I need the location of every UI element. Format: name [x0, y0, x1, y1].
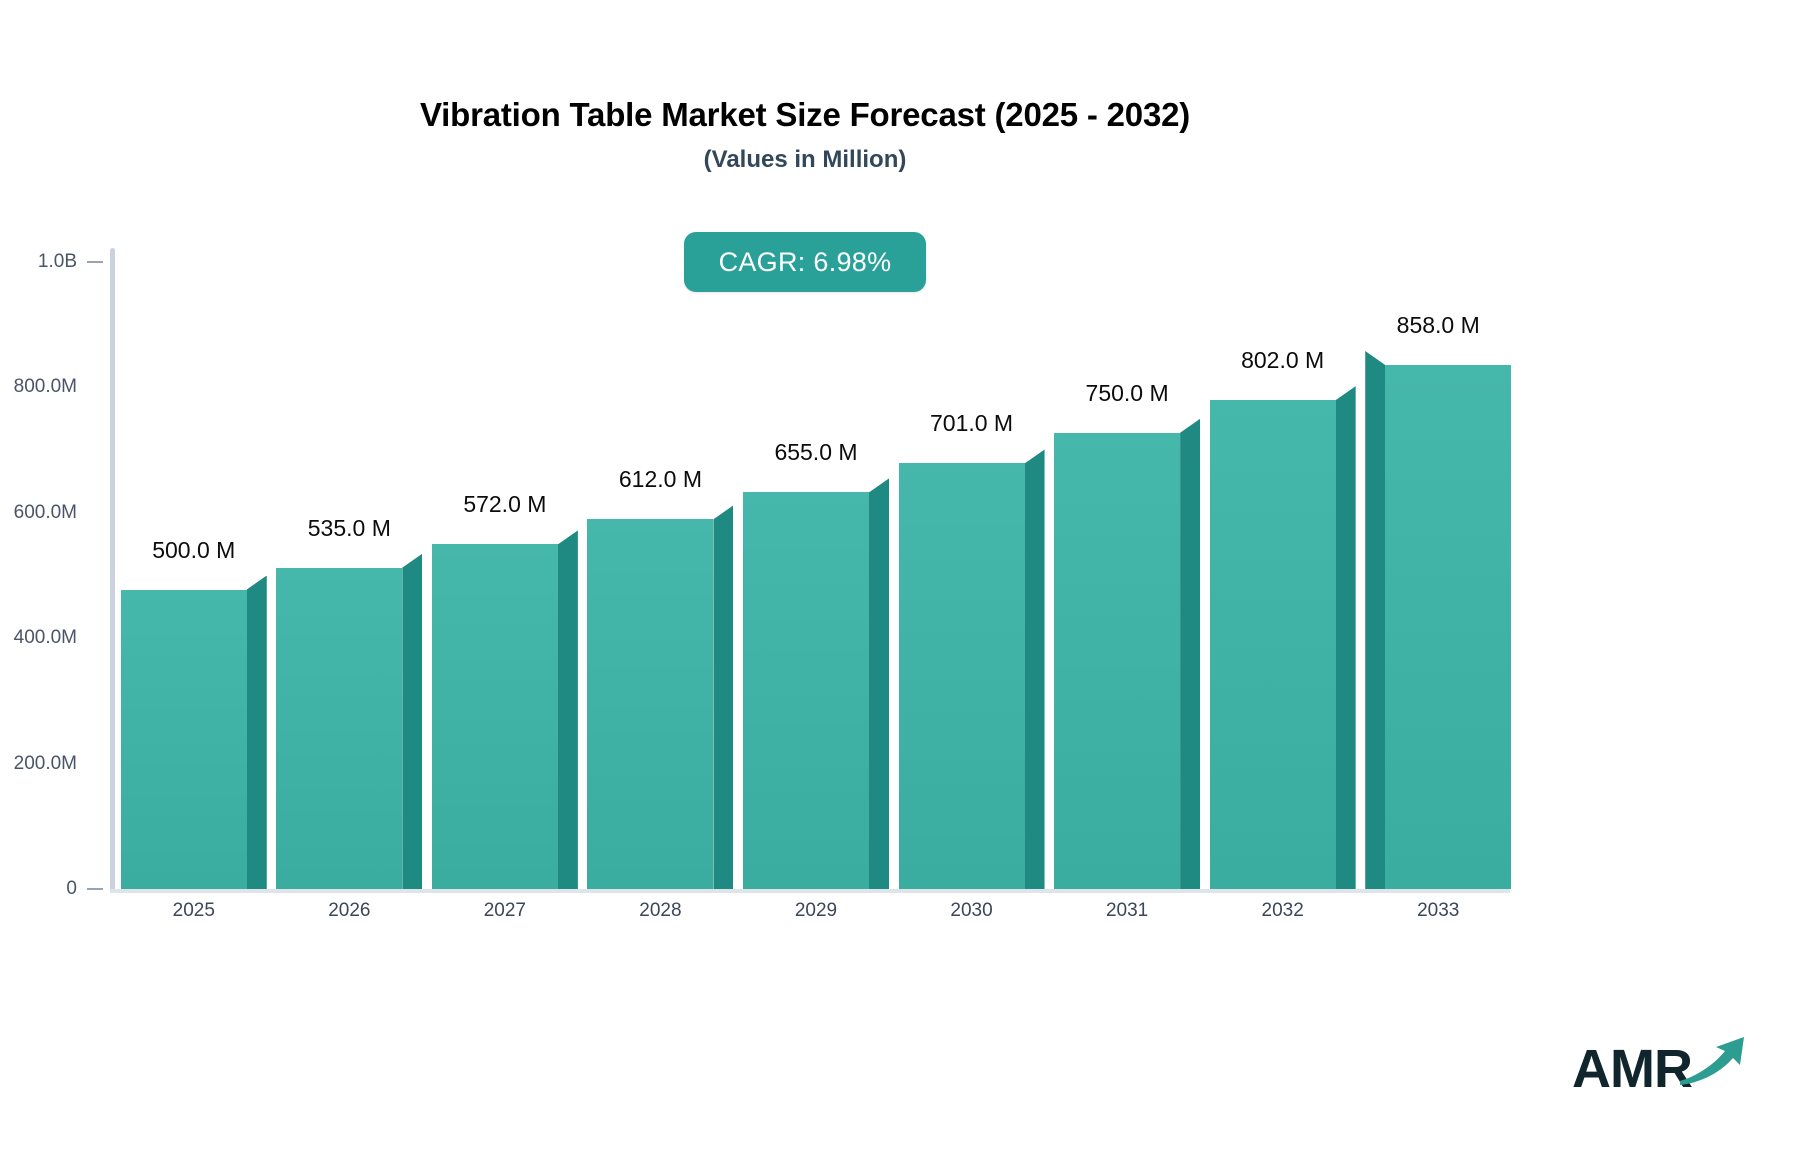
bar-shape — [899, 449, 1045, 889]
bar-front-face — [1210, 400, 1336, 889]
bar-side-face — [1365, 351, 1385, 889]
bar-item: 500.0 M — [121, 576, 267, 890]
bar-item: 750.0 M — [1054, 419, 1200, 889]
bar-value-label: 701.0 M — [899, 410, 1045, 437]
y-axis-tick: 600.0M — [0, 502, 109, 524]
y-axis-tick-label: 600.0M — [14, 502, 77, 524]
bar-item: 802.0 M — [1210, 386, 1356, 889]
bar-side-face — [558, 530, 578, 889]
x-axis-tick-label: 2029 — [743, 900, 889, 922]
page-title: Vibration Table Market Size Forecast (20… — [0, 96, 1610, 134]
x-axis-tick-label: 2033 — [1365, 900, 1511, 922]
logo-text: AMR — [1572, 1042, 1692, 1096]
x-axis-tick-label: 2028 — [587, 900, 733, 922]
bar-front-face — [743, 492, 869, 889]
bar-value-label: 858.0 M — [1365, 312, 1511, 339]
bar-value-label: 802.0 M — [1210, 347, 1356, 374]
y-axis-tick: 200.0M — [0, 753, 109, 775]
bar-shape — [121, 576, 267, 890]
bar-value-label: 612.0 M — [587, 466, 733, 493]
y-axis-tick-label: 0 — [66, 878, 77, 900]
bar-value-label: 535.0 M — [276, 515, 422, 542]
chart-subtitle: (Values in Million) — [0, 146, 1610, 174]
y-axis-tick-mark — [87, 261, 103, 263]
y-axis-tick-mark — [87, 888, 103, 890]
amr-logo: AMR — [1572, 1031, 1750, 1096]
bar-shape — [587, 505, 733, 889]
x-axis-tick-label: 2026 — [276, 900, 422, 922]
x-axis-tick-label: 2030 — [899, 900, 1045, 922]
bar-series: 500.0 M2025535.0 M2026572.0 M2027612.0 M… — [110, 248, 1510, 892]
bar-side-face — [247, 576, 267, 890]
bar-value-label: 655.0 M — [743, 439, 889, 466]
plot-area: 0200.0M400.0M600.0M800.0M1.0B 500.0 M202… — [110, 248, 1510, 892]
bar-front-face — [276, 568, 402, 889]
bar-shape — [743, 478, 889, 889]
bar-item: 858.0 M — [1365, 351, 1511, 889]
bar-front-face — [121, 590, 247, 890]
y-axis-tick-label: 1.0B — [38, 251, 77, 273]
bar-side-face — [1180, 419, 1200, 889]
y-axis-tick-label: 400.0M — [14, 627, 77, 649]
bar-side-face — [713, 505, 733, 889]
bar-shape — [1054, 419, 1200, 889]
bar-item: 535.0 M — [276, 554, 422, 889]
bar-shape — [276, 554, 422, 889]
bar-front-face — [432, 544, 558, 889]
bar-shape — [432, 530, 578, 889]
bar-shape — [1365, 351, 1511, 889]
bar-front-face — [899, 463, 1025, 889]
bar-front-face — [1385, 365, 1511, 889]
y-axis-tick-label: 800.0M — [14, 376, 77, 398]
y-axis-tick: 1.0B — [0, 251, 109, 273]
y-axis-tick: 0 — [0, 878, 109, 900]
bar-front-face — [1054, 433, 1180, 889]
chart-container: Vibration Table Market Size Forecast (20… — [0, 0, 1800, 1156]
x-axis-tick-label: 2027 — [432, 900, 578, 922]
bar-value-label: 500.0 M — [121, 537, 267, 564]
bar-side-face — [869, 478, 889, 889]
bar-value-label: 750.0 M — [1054, 380, 1200, 407]
bar-front-face — [587, 519, 713, 889]
bar-item: 655.0 M — [743, 478, 889, 889]
bar-item: 701.0 M — [899, 449, 1045, 889]
title-block: Vibration Table Market Size Forecast (20… — [0, 96, 1610, 174]
bar-side-face — [402, 554, 422, 889]
bar-shape — [1210, 386, 1356, 889]
bar-item: 612.0 M — [587, 505, 733, 889]
bar-value-label: 572.0 M — [432, 491, 578, 518]
y-axis-tick: 800.0M — [0, 376, 109, 398]
x-axis-tick-label: 2032 — [1210, 900, 1356, 922]
x-axis-tick-label: 2031 — [1054, 900, 1200, 922]
y-axis-tick-label: 200.0M — [14, 753, 77, 775]
growth-arrow-icon — [1678, 1031, 1750, 1092]
y-axis-tick: 400.0M — [0, 627, 109, 649]
bar-item: 572.0 M — [432, 530, 578, 889]
bar-side-face — [1336, 386, 1356, 889]
bar-side-face — [1025, 449, 1045, 889]
x-axis-tick-label: 2025 — [121, 900, 267, 922]
